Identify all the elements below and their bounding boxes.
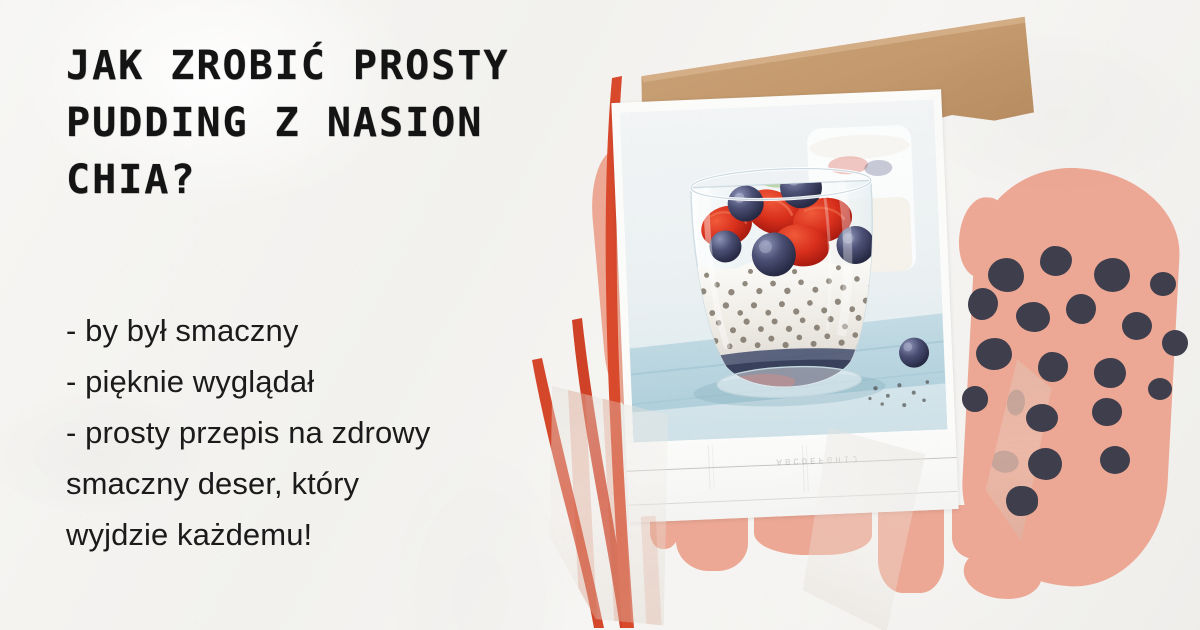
navy-dot <box>1066 294 1096 324</box>
navy-dot <box>1150 272 1176 296</box>
chia-pudding-illustration <box>620 100 948 443</box>
navy-dot <box>1122 312 1152 340</box>
navy-dot <box>1028 448 1062 480</box>
navy-dot <box>1006 486 1038 516</box>
list-item: wyjdzie każdemu! <box>66 509 556 560</box>
navy-dot <box>1094 358 1126 388</box>
headline-line: PUDDING Z NASION <box>66 95 586 152</box>
navy-dot <box>1026 404 1058 432</box>
coral-lobe <box>952 505 1010 559</box>
navy-dot <box>1016 302 1050 332</box>
navy-dot <box>962 386 988 412</box>
banner-canvas: ABCDEFGHIJ <box>0 0 1200 630</box>
page-title: JAK ZROBIĆ PROSTY PUDDING Z NASION CHIA? <box>66 38 586 209</box>
list-item: smaczny deser, który <box>66 458 556 509</box>
benefits-list: - by był smaczny - pięknie wyglądał - pr… <box>66 305 556 560</box>
navy-dot <box>1092 398 1122 426</box>
list-item: - prosty przepis na zdrowy <box>66 407 556 458</box>
navy-dot <box>1038 352 1068 382</box>
navy-dot <box>988 258 1024 292</box>
navy-dot <box>976 338 1012 370</box>
list-item: - pięknie wyglądał <box>66 356 556 407</box>
list-item: - by był smaczny <box>66 305 556 356</box>
navy-dot <box>1148 378 1172 400</box>
navy-dot <box>1100 446 1130 474</box>
navy-dot <box>1094 258 1130 292</box>
navy-dot <box>1162 330 1188 356</box>
headline-line: CHIA? <box>66 152 586 209</box>
headline-line: JAK ZROBIĆ PROSTY <box>66 38 586 95</box>
chia-pudding-photo <box>620 100 948 443</box>
